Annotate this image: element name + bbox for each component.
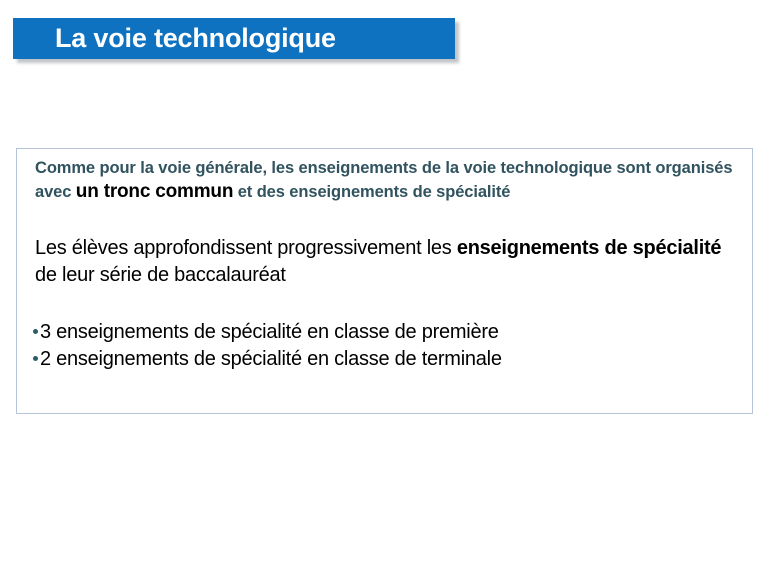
body-paragraph: Les élèves approfondissent progressiveme… [27,204,742,289]
list-item: 3 enseignements de spécialité en classe … [33,319,742,346]
list-item: 2 enseignements de spécialité en classe … [33,346,742,373]
content-box: Comme pour la voie générale, les enseign… [16,148,753,414]
page-title: La voie technologique [13,25,336,52]
slide-title-banner: La voie technologique [13,18,455,59]
bullet-dot-icon [33,329,38,334]
list-item-label: 3 enseignements de spécialité en classe … [40,319,499,346]
intro-tail-text: et des enseignements de spécialité [233,183,510,201]
specialty-bullet-list: 3 enseignements de spécialité en classe … [27,289,742,373]
body-lead-text: Les élèves approfondissent progressiveme… [35,237,457,259]
slide-canvas: La voie technologique Comme pour la voie… [0,0,768,576]
body-bold-text: enseignements de spécialité [457,237,721,259]
intro-highlight-text: un tronc commun [76,181,233,202]
list-item-label: 2 enseignements de spécialité en classe … [40,346,502,373]
bullet-dot-icon [33,356,38,361]
intro-paragraph: Comme pour la voie générale, les enseign… [27,157,742,204]
body-tail-text: de leur série de baccalauréat [35,264,286,286]
